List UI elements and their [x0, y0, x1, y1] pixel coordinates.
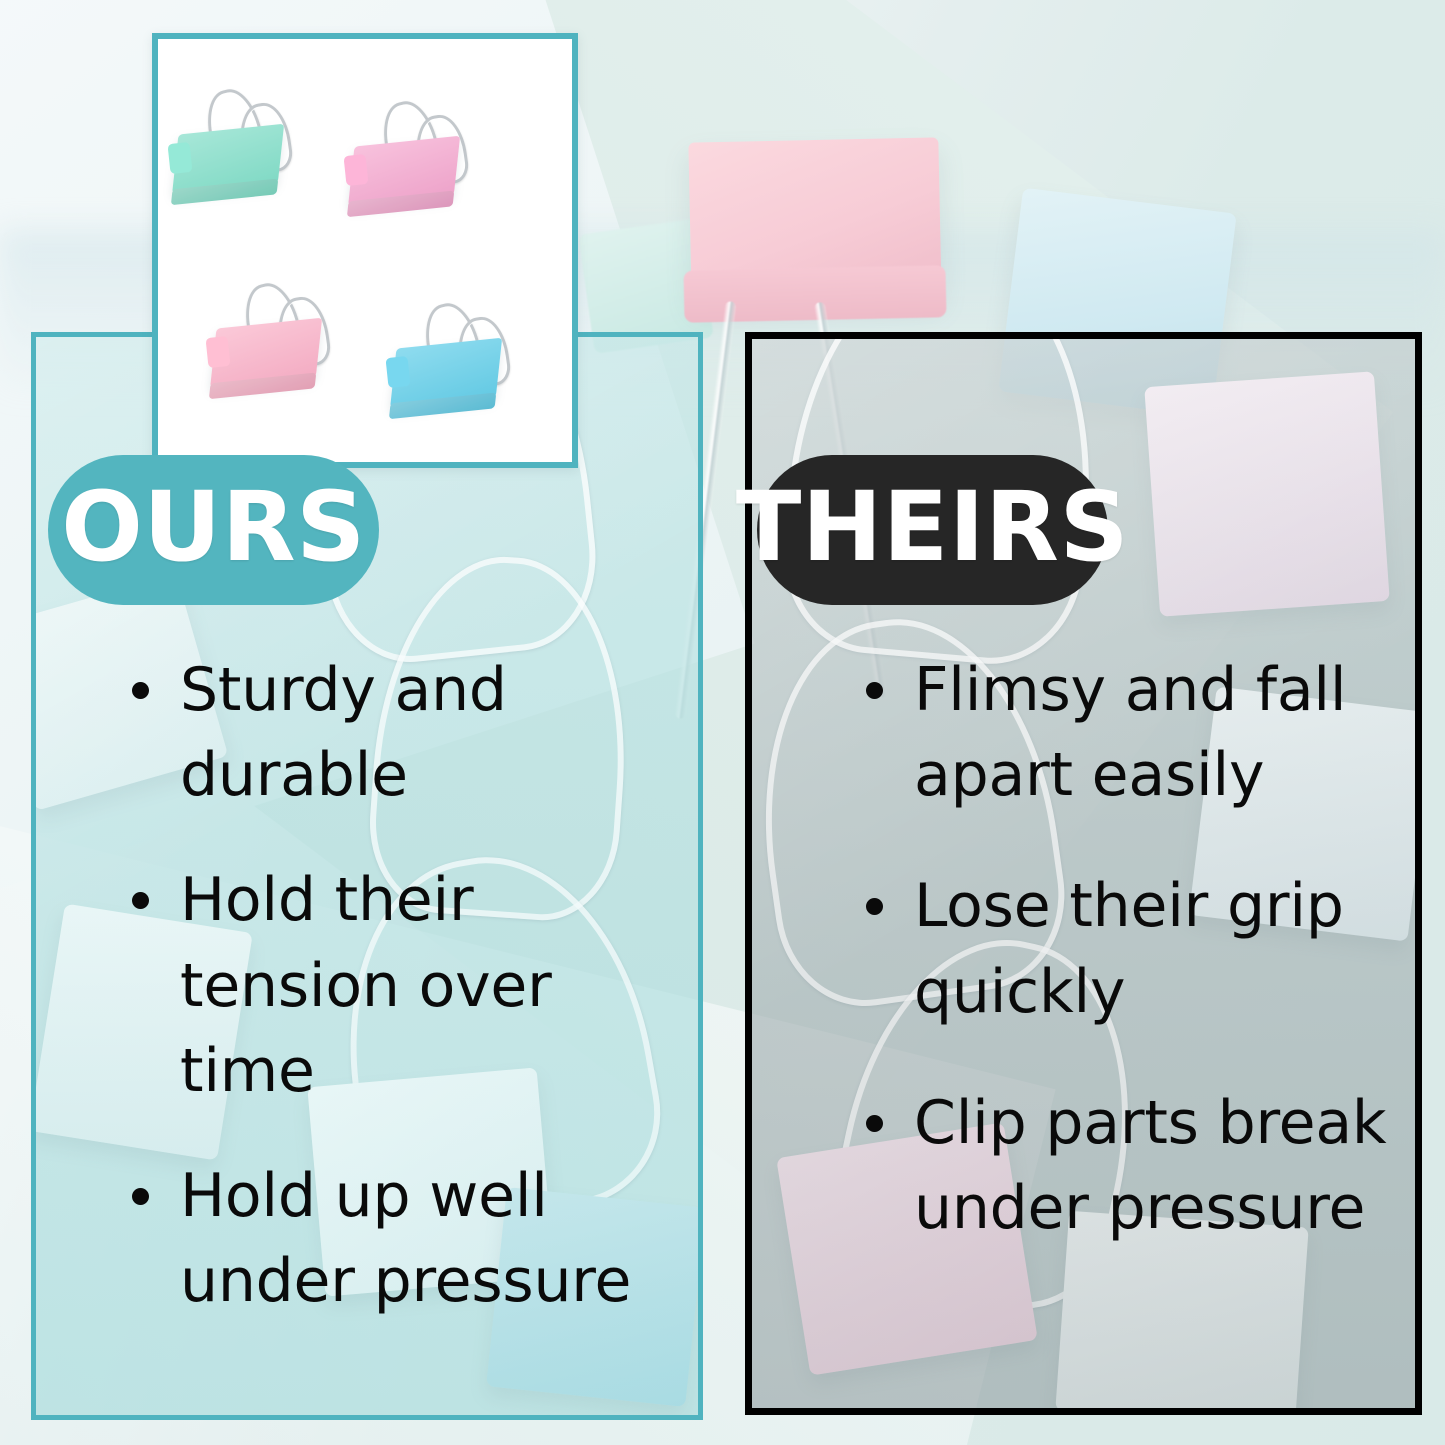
list-item: Sturdy and durable — [118, 648, 674, 818]
list-item: Clip parts break under pressure — [852, 1081, 1412, 1251]
product-clip-pink — [348, 99, 488, 219]
product-clip-blue — [390, 301, 530, 421]
product-photo-inset — [152, 33, 578, 468]
list-item: Hold their tension over time — [118, 858, 674, 1114]
list-item: Lose their grip quickly — [852, 864, 1412, 1034]
list-item: Flimsy and fall apart easily — [852, 648, 1412, 818]
comparison-infographic: OURS THEIRS Sturdy and durable Hold thei… — [0, 0, 1445, 1445]
product-clip-mint — [172, 87, 312, 207]
badge-theirs: THEIRS — [757, 455, 1108, 605]
list-item: Hold up well under pressure — [118, 1154, 674, 1324]
bullet-list-ours: Sturdy and durable Hold their tension ov… — [118, 648, 674, 1364]
product-clip-rose — [210, 281, 350, 401]
badge-ours: OURS — [48, 455, 379, 605]
bullet-list-theirs: Flimsy and fall apart easily Lose their … — [852, 648, 1412, 1297]
product-photo-canvas — [158, 39, 572, 462]
